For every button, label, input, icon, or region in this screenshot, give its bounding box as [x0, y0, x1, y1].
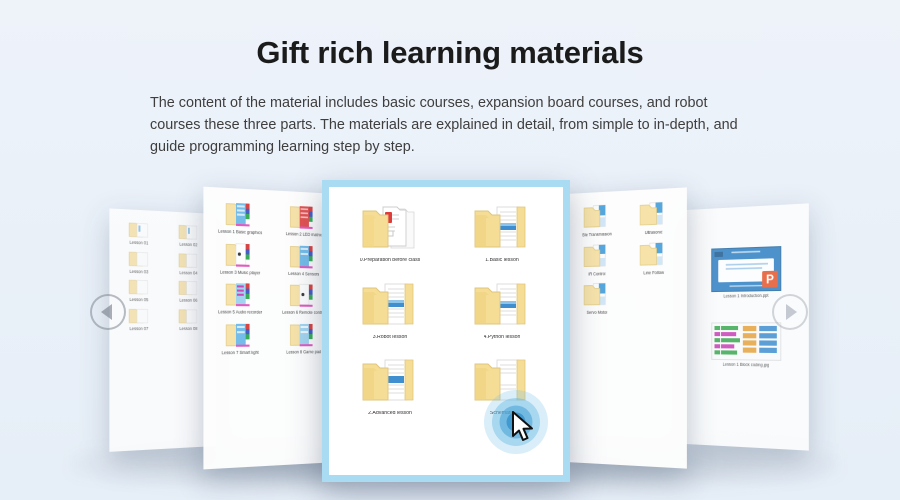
carousel-panel-near-right[interactable]: Ble Transmission Ultrasonic IR Control: [566, 187, 687, 468]
item-label: Lesson 07: [130, 327, 149, 332]
list-item[interactable]: Lesson 1 Basic graphics: [210, 198, 269, 237]
folder-icon: [582, 241, 612, 270]
blocks-diagram-icon: [711, 321, 782, 361]
list-item[interactable]: Ble Transmission: [572, 201, 622, 238]
item-label: 2.Advanced lesson: [368, 411, 412, 417]
chevron-left-icon: [101, 304, 112, 320]
page-title: Gift rich learning materials: [0, 34, 900, 71]
list-item[interactable]: 3.Robot lesson: [339, 278, 441, 341]
folder-icon: [224, 198, 257, 229]
chevron-right-icon: [786, 304, 797, 320]
folder-grid: 0.Preparation before class: [339, 201, 553, 467]
item-label: Lesson 1 Block coding.jpg: [723, 362, 770, 368]
folder-icon: [224, 239, 257, 269]
folder-icon: [224, 319, 257, 348]
text-block: Gift rich learning materials The content…: [0, 34, 900, 159]
folder-icon: [638, 199, 669, 229]
item-label: Lesson 03: [130, 269, 149, 274]
item-label: Lesson 08: [179, 327, 197, 332]
list-item[interactable]: 1.Basic lesson: [451, 201, 553, 264]
carousel: Lesson 01 Lesson 02 Lesson 03: [0, 168, 900, 500]
item-label: Line Follow: [643, 270, 663, 275]
folder-icon: [288, 241, 319, 270]
folder-icon: [178, 221, 198, 241]
folder-icon: [128, 247, 149, 267]
folder-icon: [288, 280, 319, 309]
item-label: Lesson 8 Game pad: [286, 350, 321, 355]
folder-open-icon: [471, 354, 533, 408]
folder-icon: [582, 280, 612, 309]
carousel-next-button[interactable]: [772, 294, 808, 330]
carousel-panel-near-left[interactable]: Lesson 1 Basic graphics Lesson 2 LED mat…: [203, 187, 338, 470]
item-label: Lesson 04: [179, 271, 197, 276]
folder-icon: [224, 279, 257, 309]
item-label: Servo Motor: [587, 311, 608, 316]
folder-icon: [582, 202, 612, 232]
folder-icon: [128, 276, 149, 296]
folder-icon: [288, 201, 319, 231]
folder-icon: [288, 320, 319, 349]
list-item[interactable]: Lesson 1 Block coding.jpg: [711, 321, 782, 368]
svg-text:P: P: [766, 273, 774, 287]
carousel-prev-button[interactable]: [90, 294, 126, 330]
item-label: Ultrasonic: [645, 230, 663, 235]
carousel-panel-far-left[interactable]: Lesson 01 Lesson 02 Lesson 03: [109, 208, 216, 451]
item-label: Lesson 1 Introduction.ppt: [723, 294, 768, 299]
list-item[interactable]: Line Follow: [628, 239, 680, 276]
carousel-panel-center-active[interactable]: 0.Preparation before class: [322, 180, 570, 482]
item-label: 0.Preparation before class: [360, 258, 421, 264]
folder-open-icon: [359, 278, 421, 332]
folder-icon: [638, 239, 669, 269]
item-label: Lesson 02: [179, 243, 197, 248]
folder-open-icon: [471, 278, 533, 332]
folder-grid: Lesson 01 Lesson 02 Lesson 03: [115, 218, 210, 442]
page-description: The content of the material includes bas…: [150, 93, 750, 159]
folder-icon: [178, 277, 198, 297]
list-item[interactable]: Lesson 7 Smart light: [210, 319, 269, 355]
thumbnail-list: P Lesson 1 Introduction.ppt: [692, 213, 801, 368]
item-label: Lesson 4 Sensors: [288, 271, 319, 276]
list-item[interactable]: Lesson 5 Audio recorder: [210, 279, 269, 316]
list-item[interactable]: Servo Motor: [572, 280, 622, 316]
item-label: Lesson 01: [130, 241, 149, 246]
item-label: Lesson 06: [179, 299, 197, 304]
list-item[interactable]: 2.Advanced lesson: [339, 354, 441, 417]
item-label: Lesson 2 LED matrix: [286, 232, 322, 238]
list-item[interactable]: P Lesson 1 Introduction.ppt: [711, 246, 782, 300]
item-label: IR Control: [588, 272, 605, 277]
item-label: Lesson 5 Audio recorder: [218, 310, 262, 315]
folder-icon: [128, 219, 149, 240]
folder-icon: [128, 305, 149, 325]
list-item[interactable]: 0.Preparation before class: [339, 201, 441, 264]
folder-grid: Lesson 1 Basic graphics Lesson 2 LED mat…: [210, 198, 331, 459]
item-label: Lesson 3 Music player: [220, 270, 260, 276]
folder-icon: [178, 305, 198, 324]
item-label: 4.Python lesson: [484, 335, 521, 341]
list-item[interactable]: Lesson 3 Music player: [210, 238, 269, 276]
folder-documents-icon: [359, 201, 421, 255]
item-label: Schematic: [490, 411, 514, 417]
list-item[interactable]: Schematic: [451, 354, 553, 417]
folder-browser-window: 0.Preparation before class: [329, 187, 563, 475]
folder-open-icon: [359, 354, 421, 408]
item-label: Lesson 1 Basic graphics: [218, 229, 262, 235]
powerpoint-icon: P: [711, 246, 782, 293]
item-label: Ble Transmission: [582, 232, 611, 238]
list-item[interactable]: Lesson 05: [115, 276, 162, 303]
folder-open-icon: [471, 201, 533, 255]
item-label: 3.Robot lesson: [373, 335, 408, 341]
folder-grid: Ble Transmission Ultrasonic IR Control: [572, 198, 680, 458]
list-item[interactable]: Ultrasonic: [628, 198, 680, 236]
learning-materials-banner: Gift rich learning materials The content…: [0, 0, 900, 500]
item-label: Lesson 7 Smart light: [222, 351, 259, 356]
item-label: 1.Basic lesson: [485, 258, 518, 264]
list-item[interactable]: Lesson 03: [115, 247, 162, 275]
list-item[interactable]: Lesson 01: [115, 218, 162, 247]
item-label: Lesson 6 Remote control: [282, 311, 325, 316]
item-label: Lesson 05: [130, 298, 149, 303]
list-item[interactable]: 4.Python lesson: [451, 278, 553, 341]
folder-icon: [178, 249, 198, 269]
list-item[interactable]: IR Control: [572, 241, 622, 277]
